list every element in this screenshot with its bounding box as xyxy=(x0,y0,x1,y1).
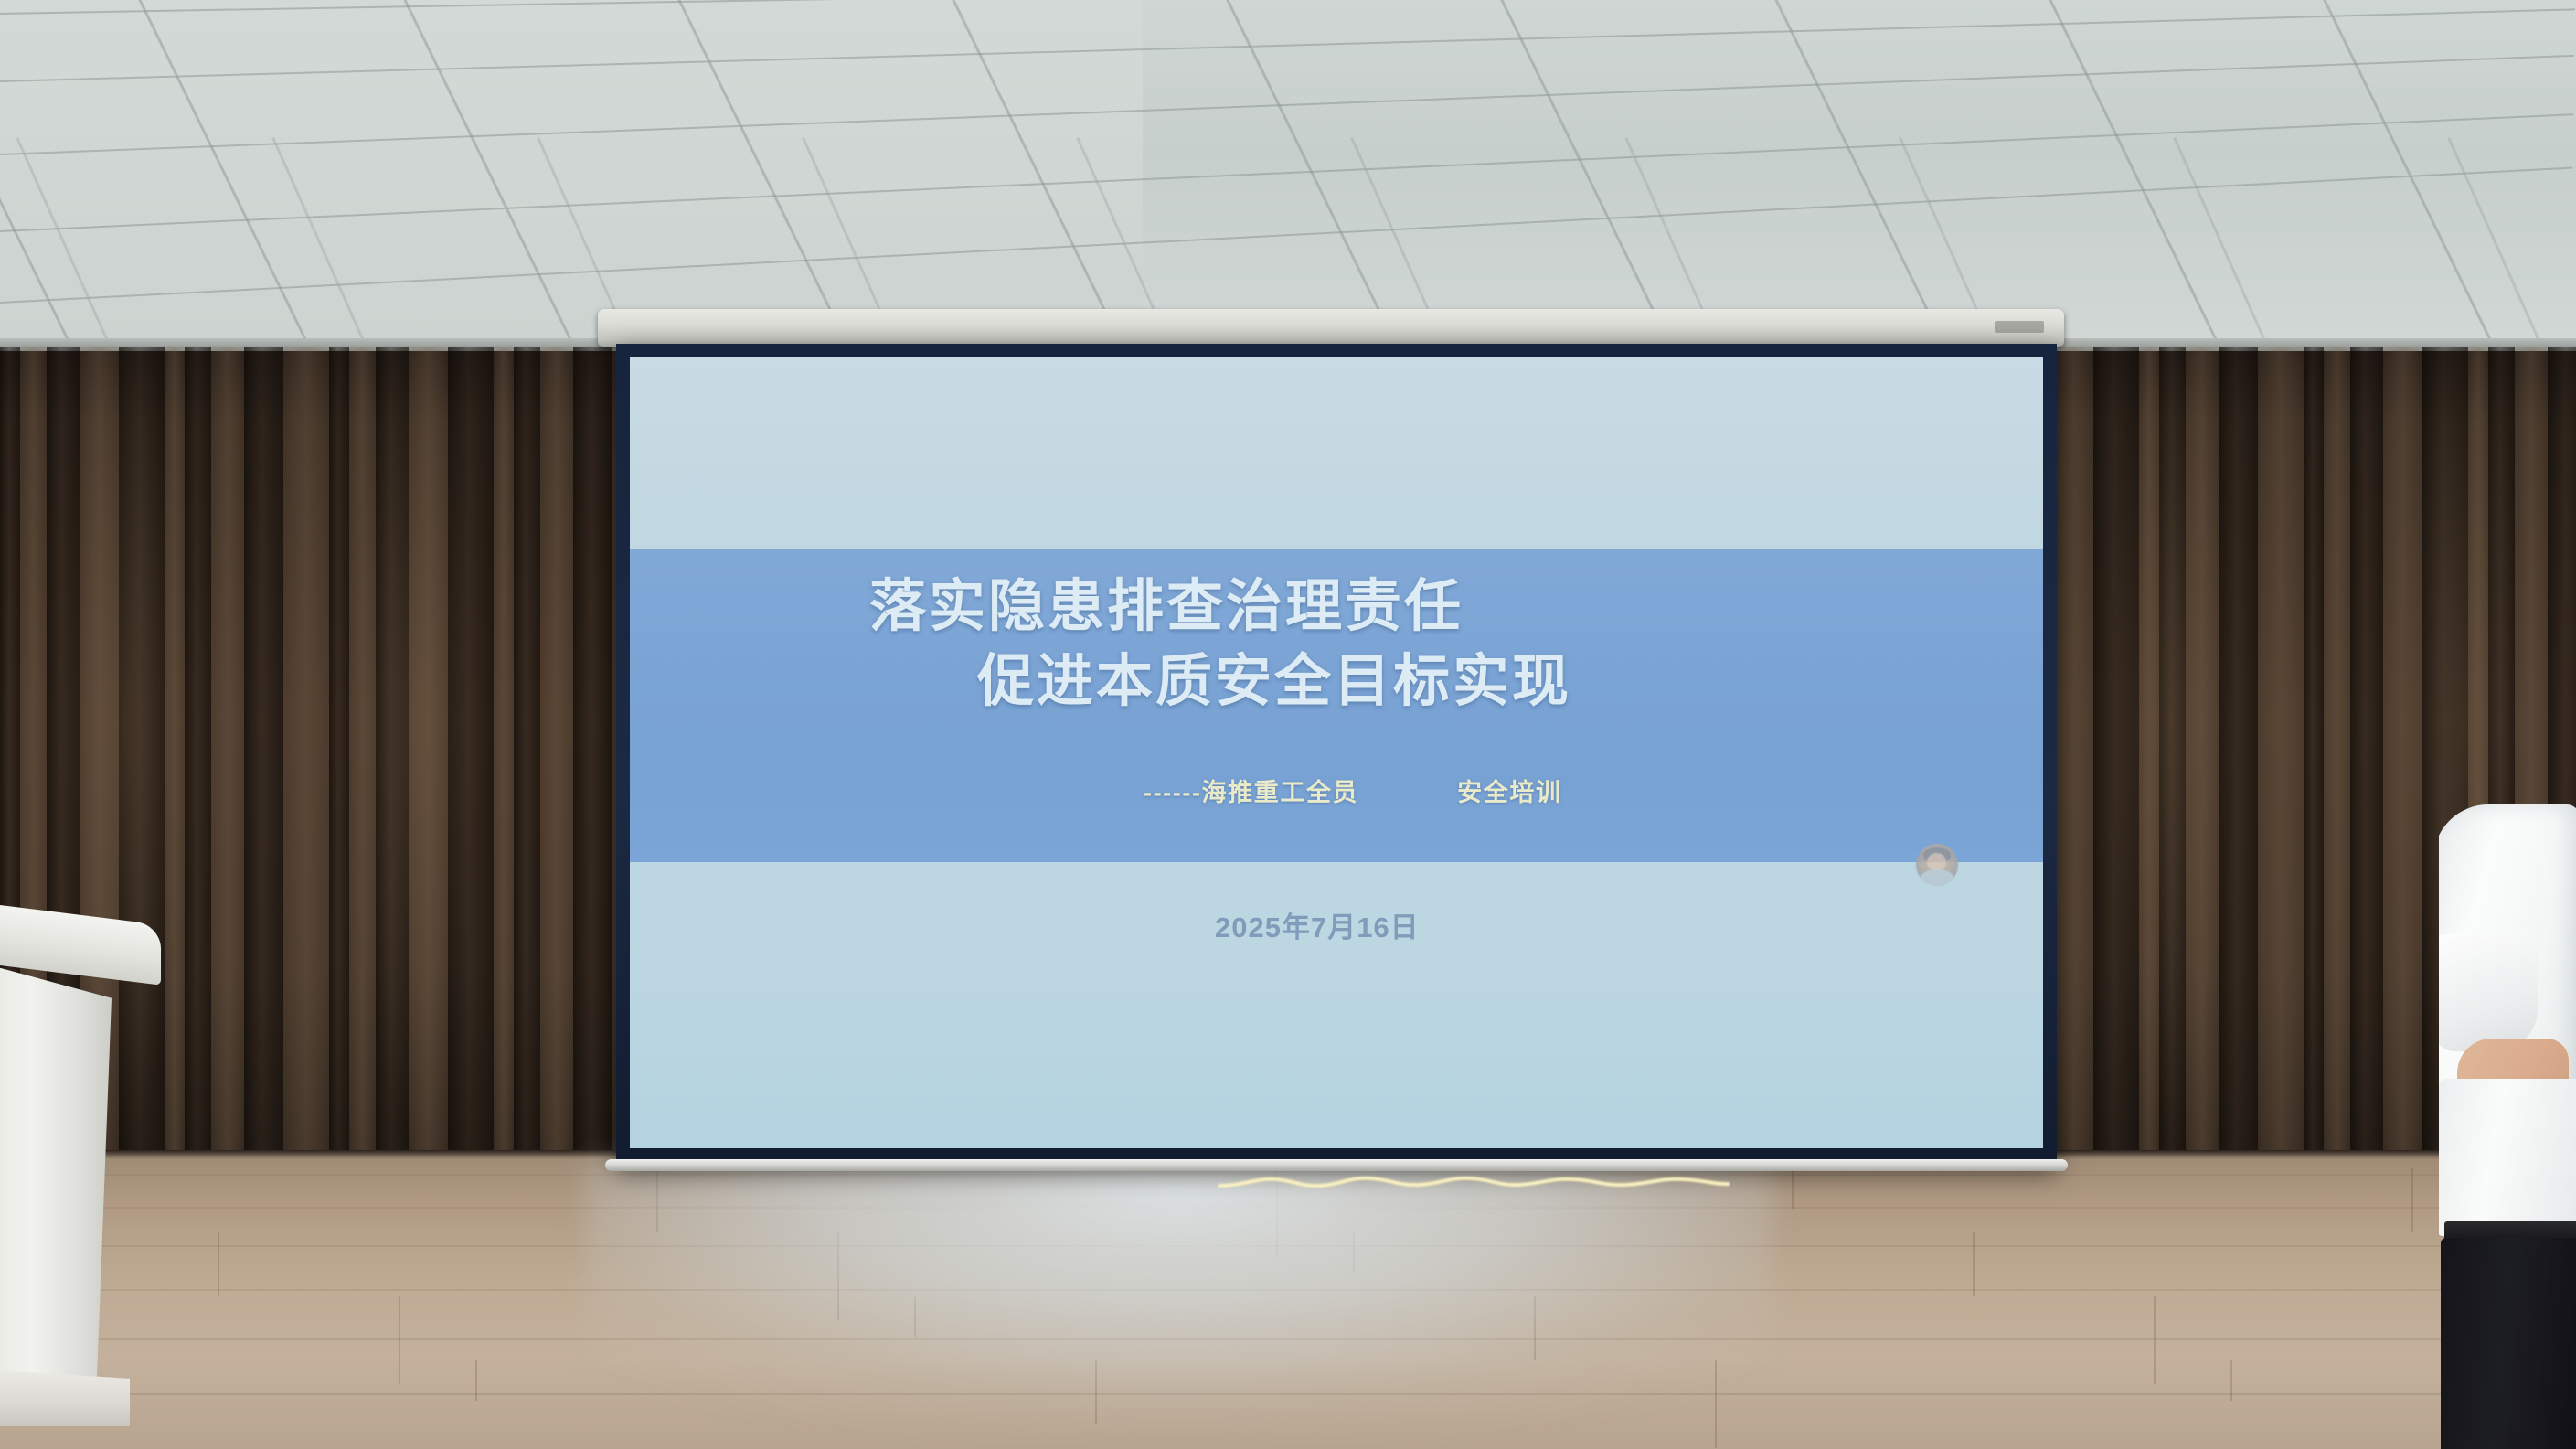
lectern-base xyxy=(0,1369,130,1426)
attendee-shirt-lower xyxy=(2439,1079,2576,1236)
presenter-avatar xyxy=(1916,844,1958,886)
lectern-body xyxy=(0,964,112,1385)
avatar-face xyxy=(1927,853,1946,871)
screen-weight-bar xyxy=(605,1159,2068,1171)
slide-title-block: 落实隐患排查治理责任 促进本质安全目标实现 xyxy=(630,549,2043,861)
lectern xyxy=(0,914,170,1449)
slide-subtitle-topic: 安全培训 xyxy=(1457,772,1561,808)
ceiling-left-panel xyxy=(0,0,1143,347)
screen-roller-housing xyxy=(598,309,2064,347)
presentation-slide: 落实隐患排查治理责任 促进本质安全目标实现 ------海推重工全员 安全培训 … xyxy=(630,357,2043,1148)
slide-title-line-1: 落实隐患排查治理责任 xyxy=(869,570,2043,645)
conference-room-scene: 落实隐患排查治理责任 促进本质安全目标实现 ------海推重工全员 安全培训 … xyxy=(0,0,2576,1449)
attendee-sleeve xyxy=(2439,934,2538,1051)
roller-brand-badge xyxy=(1995,321,2044,333)
slide-date: 2025年7月16日 xyxy=(1215,904,2043,945)
attendee-trousers xyxy=(2441,1238,2576,1449)
avatar-body xyxy=(1920,869,1955,885)
projector-screen-assembly: 落实隐患排查治理责任 促进本质安全目标实现 ------海推重工全员 安全培训 … xyxy=(596,309,2066,1170)
screen-frame: 落实隐患排查治理责任 促进本质安全目标实现 ------海推重工全员 安全培训 … xyxy=(616,344,2057,1163)
wood-floor xyxy=(0,1150,2576,1449)
slide-title-line-2: 促进本质安全目标实现 xyxy=(977,645,2043,719)
slide-subtitle-row: ------海推重工全员 安全培训 xyxy=(630,772,2043,808)
slide-subtitle-organization: ------海推重工全员 xyxy=(1144,772,1358,808)
screen-surface: 落实隐患排查治理责任 促进本质安全目标实现 ------海推重工全员 安全培训 … xyxy=(630,357,2043,1148)
standing-attendee xyxy=(2439,804,2576,1449)
lectern-top xyxy=(0,903,161,985)
